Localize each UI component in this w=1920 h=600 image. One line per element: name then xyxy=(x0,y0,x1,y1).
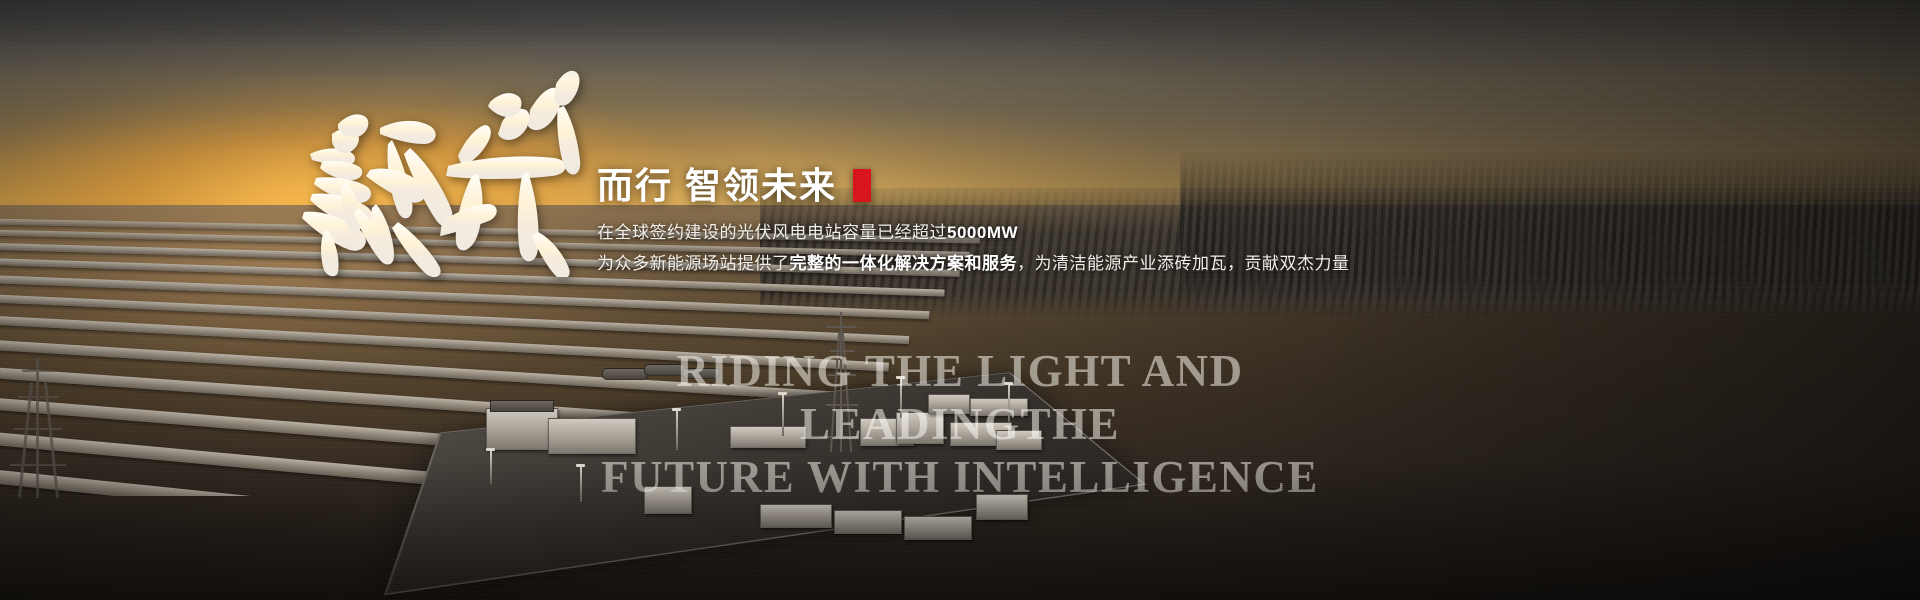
english-tagline-line1: RIDING THE LIGHT AND LEADINGTHE xyxy=(676,346,1243,449)
subtitle-line-2: 为众多新能源场站提供了完整的一体化解决方案和服务，为清洁能源产业添砖加瓦，贡献双… xyxy=(597,249,1317,279)
subtitle-1-prefix: 在全球签约建设的光伏风电电站容量已经超过 xyxy=(597,223,947,242)
subtitle-2-prefix: 为众多新能源场站提供了 xyxy=(597,254,790,273)
subtitle-line-1: 在全球签约建设的光伏风电电站容量已经超过5000MW xyxy=(597,218,1317,248)
battery-container-3 xyxy=(834,510,902,534)
subtitle-2-emphasis: 完整的一体化解决方案和服务 xyxy=(790,254,1018,273)
battery-container-4 xyxy=(904,516,972,540)
accent-block xyxy=(853,169,871,202)
english-tagline: RIDING THE LIGHT AND LEADINGTHE FUTURE W… xyxy=(560,345,1360,504)
hero-banner: 而行 智领未来 在全球签约建设的光伏风电电站容量已经超过5000MW 为众多新能… xyxy=(0,0,1920,600)
power-pylon-left xyxy=(8,358,68,498)
headline-row: 而行 智领未来 xyxy=(597,166,1317,206)
hero-text-block: 而行 智领未来 在全球签约建设的光伏风电电站容量已经超过5000MW 为众多新能… xyxy=(597,166,1317,279)
english-tagline-line2: FUTURE WITH INTELLIGENCE xyxy=(560,451,1360,504)
calligraphy-yuguang xyxy=(292,62,592,277)
page-title: 而行 智领未来 xyxy=(597,166,837,206)
subtitle-1-emphasis: 5000MW xyxy=(947,223,1018,242)
roof-unit xyxy=(490,400,554,412)
battery-container-2 xyxy=(760,504,832,528)
subtitle-2-suffix: ，为清洁能源产业添砖加瓦，贡献双杰力量 xyxy=(1017,254,1350,273)
